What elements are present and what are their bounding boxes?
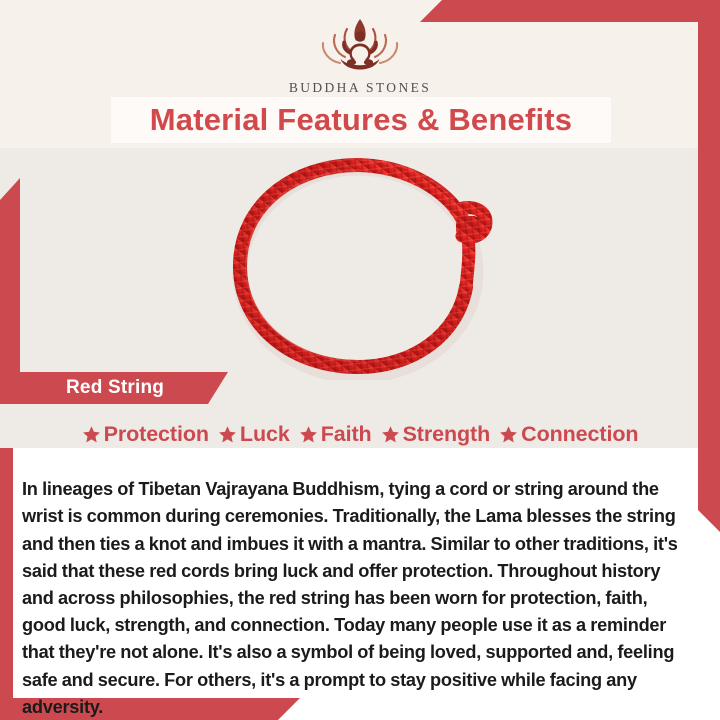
benefit-label: Luck <box>240 422 290 447</box>
title-banner: Material Features & Benefits <box>111 97 611 143</box>
product-name-ribbon: Red String <box>0 372 228 404</box>
benefit-item: Connection <box>499 422 638 447</box>
benefit-label: Connection <box>521 422 638 447</box>
decorative-bar-left-lower <box>0 448 13 698</box>
star-icon <box>499 425 518 444</box>
benefit-label: Protection <box>104 422 209 447</box>
red-braided-string-bracelet-illustration <box>200 152 530 380</box>
star-icon <box>381 425 400 444</box>
decorative-bar-left-upper <box>0 178 20 400</box>
star-icon <box>82 425 101 444</box>
product-image <box>200 152 530 380</box>
benefit-item: Protection <box>82 422 209 447</box>
brand-wordmark: BUDDHA STONES <box>0 80 720 96</box>
lotus-meditating-figure-icon <box>304 16 416 74</box>
benefit-item: Luck <box>218 422 290 447</box>
page-title: Material Features & Benefits <box>150 102 573 138</box>
product-name-label: Red String <box>66 377 164 399</box>
benefit-label: Strength <box>403 422 491 447</box>
star-icon <box>299 425 318 444</box>
benefit-item: Strength <box>381 422 491 447</box>
star-icon <box>218 425 237 444</box>
infographic-root: BUDDHA STONES Material Features & Benefi… <box>0 0 720 720</box>
benefit-label: Faith <box>321 422 372 447</box>
benefit-item: Faith <box>299 422 372 447</box>
brand-logo: BUDDHA STONES <box>0 16 720 96</box>
description-paragraph: In lineages of Tibetan Vajrayana Buddhis… <box>22 476 694 720</box>
benefits-list: Protection Luck Faith Strength Connectio… <box>0 418 720 450</box>
